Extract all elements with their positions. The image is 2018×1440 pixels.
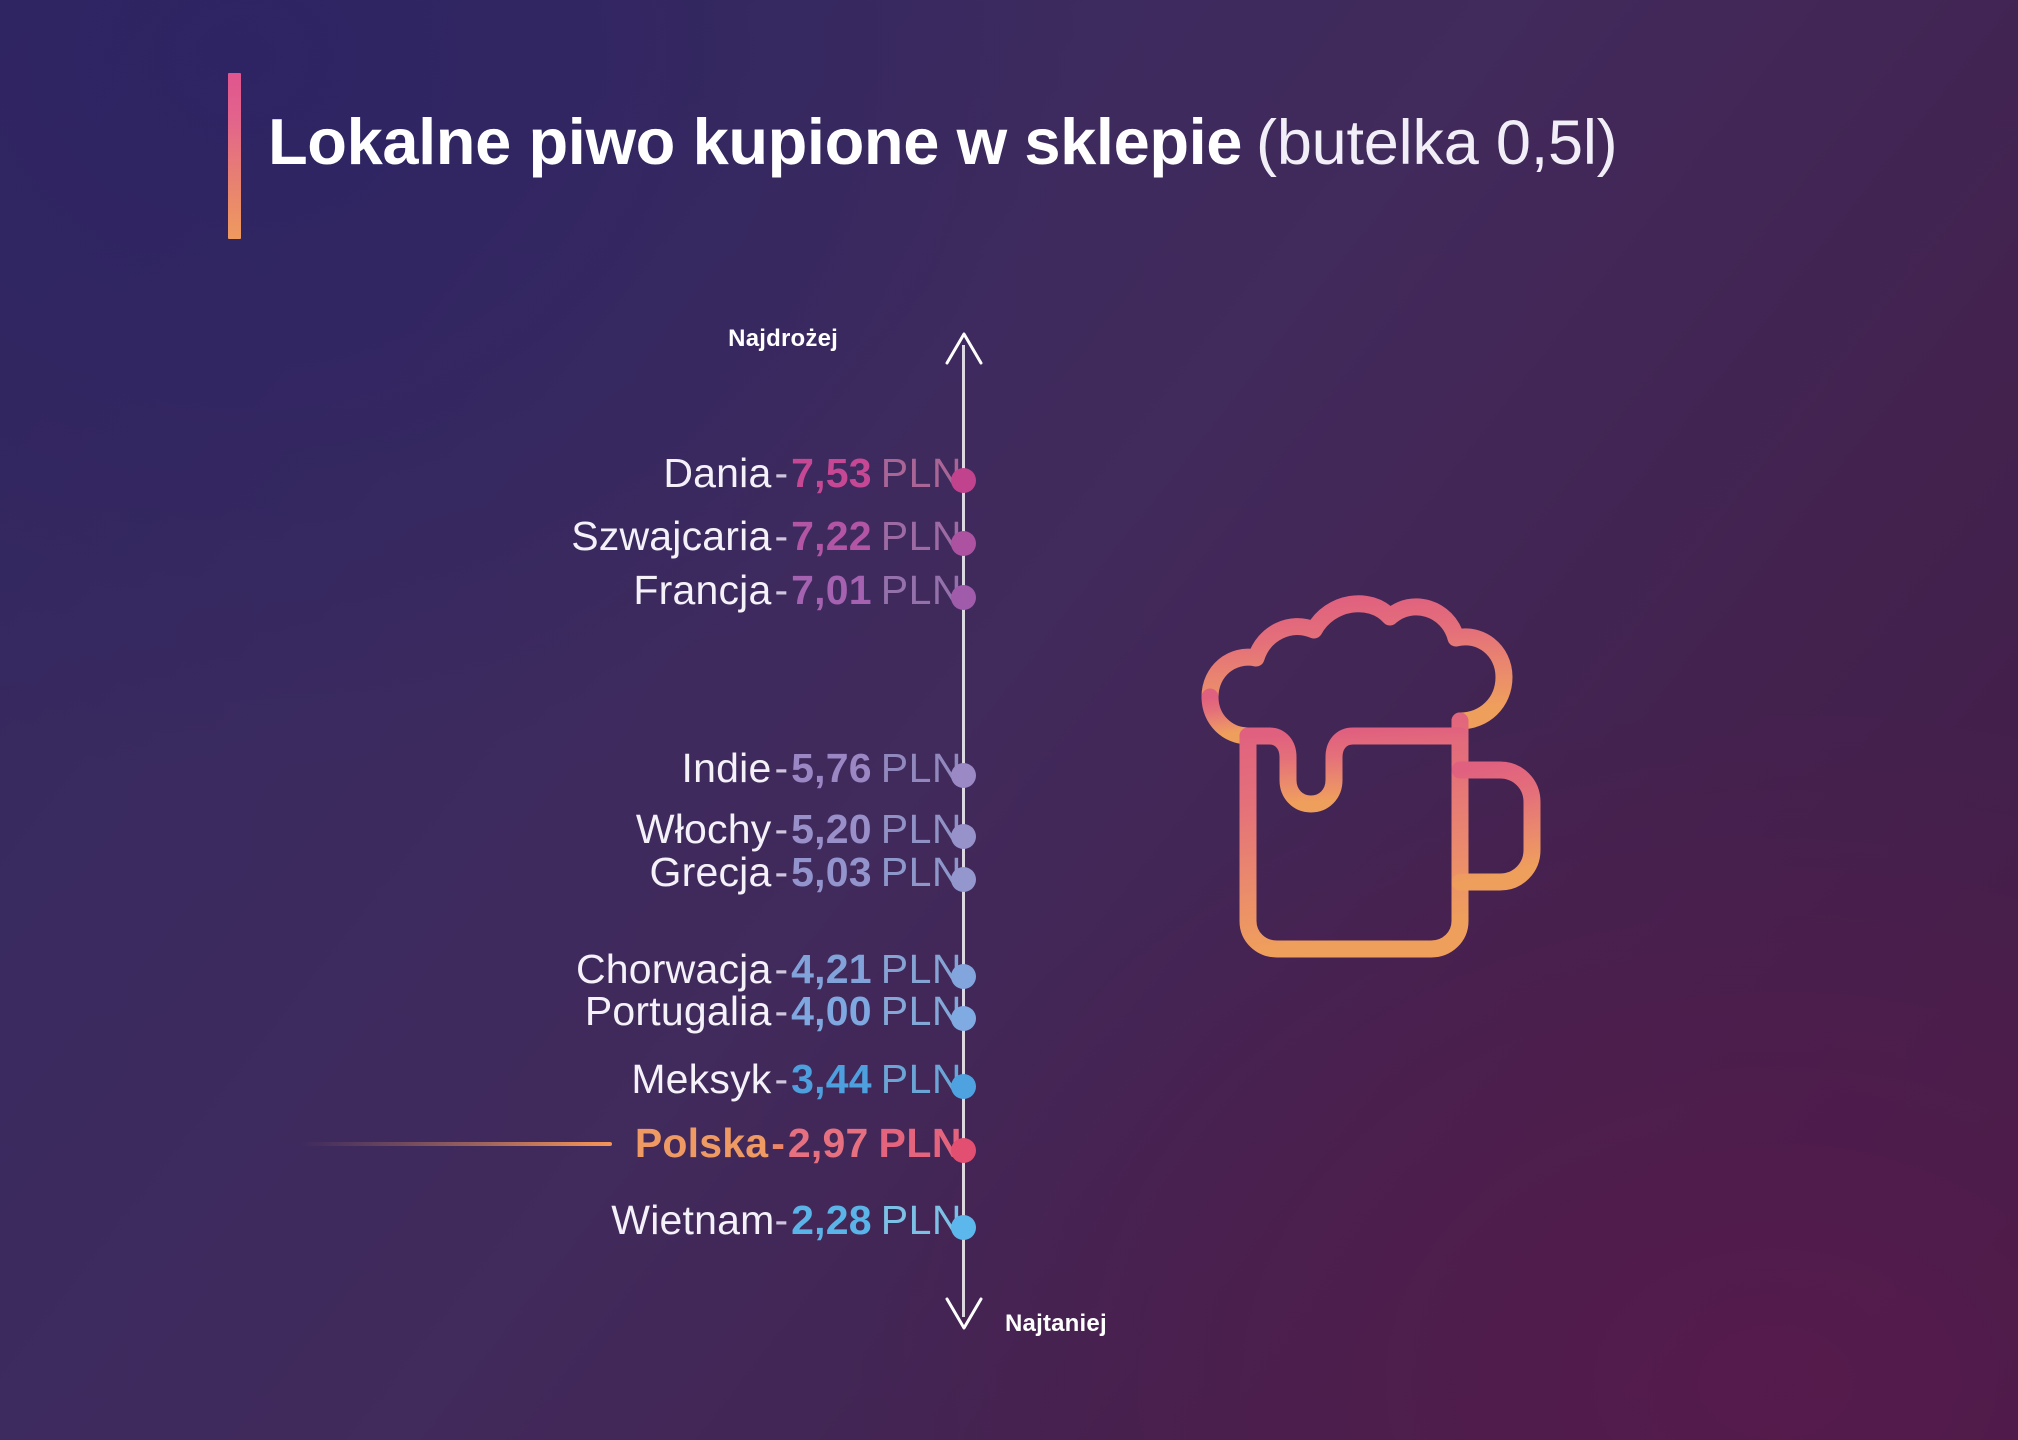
data-row-text: Portugalia-4,00PLN (585, 988, 962, 1035)
axis-dot (951, 1006, 976, 1031)
country-label: Włochy (636, 806, 772, 852)
row-separator: - (771, 745, 791, 791)
axis-dot (951, 1215, 976, 1240)
axis-dot (951, 824, 976, 849)
price-unit: PLN (881, 1197, 962, 1243)
country-label: Wietnam (611, 1197, 774, 1243)
axis-dot (951, 585, 976, 610)
arrow-down-icon (942, 1296, 986, 1332)
price-unit: PLN (881, 806, 962, 852)
price-unit: PLN (881, 849, 962, 895)
price-unit: PLN (881, 745, 962, 791)
price-value: 3,44 (791, 1056, 872, 1102)
data-row-text: Meksyk-3,44PLN (631, 1056, 962, 1103)
country-label: Indie (682, 745, 772, 791)
axis-dot (951, 964, 976, 989)
price-value: 4,00 (791, 988, 872, 1034)
data-row-text: Chorwacja-4,21PLN (576, 946, 962, 993)
data-row-text: Grecja-5,03PLN (650, 849, 963, 896)
price-value: 2,28 (791, 1197, 872, 1243)
axis-dot (951, 763, 976, 788)
axis-top-label: Najdrożej (728, 325, 838, 353)
country-label: Szwajcaria (571, 513, 771, 559)
row-separator: - (771, 849, 791, 895)
page-title: Lokalne piwo kupione w sklepie(butelka 0… (268, 104, 1617, 179)
row-separator: - (771, 1056, 791, 1102)
price-unit: PLN (881, 988, 962, 1034)
price-unit: PLN (881, 513, 962, 559)
axis-dot (951, 531, 976, 556)
title-subtitle-text: (butelka 0,5l) (1256, 108, 1617, 178)
row-separator: - (771, 450, 791, 496)
axis-bottom-label: Najtaniej (1005, 1310, 1107, 1338)
country-label: Grecja (650, 849, 772, 895)
price-unit: PLN (881, 1056, 962, 1102)
price-unit: PLN (879, 1120, 963, 1166)
price-value: 7,53 (791, 450, 872, 496)
price-value: 7,01 (791, 567, 872, 613)
row-separator: - (771, 946, 791, 992)
row-separator: - (768, 1120, 788, 1166)
price-value: 5,76 (791, 745, 872, 791)
price-unit: PLN (881, 450, 962, 496)
title-accent-bar (228, 73, 241, 239)
data-row-text: Francja-7,01PLN (633, 567, 962, 614)
highlight-connector-line (300, 1142, 612, 1146)
data-row-text: Szwajcaria-7,22PLN (571, 513, 962, 560)
arrow-up-icon (942, 330, 986, 366)
price-value: 5,03 (791, 849, 872, 895)
axis-dot (951, 1074, 976, 1099)
price-value: 2,97 (788, 1120, 869, 1166)
price-unit: PLN (881, 567, 962, 613)
country-label: Meksyk (631, 1056, 771, 1102)
axis-dot (951, 468, 976, 493)
axis-dot (951, 867, 976, 892)
axis-dot (951, 1138, 976, 1163)
infographic-canvas: Lokalne piwo kupione w sklepie(butelka 0… (0, 0, 2018, 1440)
beer-mug-icon (1148, 570, 1568, 990)
row-separator: - (774, 1197, 791, 1243)
row-separator: - (771, 988, 791, 1034)
data-row-text: Włochy-5,20PLN (636, 806, 962, 853)
country-label: Francja (633, 567, 771, 613)
data-row-text: Indie-5,76PLN (682, 745, 962, 792)
row-separator: - (771, 513, 791, 559)
title-main-text: Lokalne piwo kupione w sklepie (268, 105, 1242, 178)
price-value: 7,22 (791, 513, 872, 559)
row-separator: - (771, 567, 791, 613)
country-label: Portugalia (585, 988, 772, 1034)
country-label: Chorwacja (576, 946, 772, 992)
country-label: Polska (635, 1120, 768, 1166)
price-value: 5,20 (791, 806, 872, 852)
data-row-text: Wietnam-2,28PLN (611, 1197, 962, 1244)
price-value: 4,21 (791, 946, 872, 992)
price-unit: PLN (881, 946, 962, 992)
data-row-text: Dania-7,53PLN (663, 450, 962, 497)
row-separator: - (771, 806, 791, 852)
country-label: Dania (663, 450, 771, 496)
data-row-text: Polska-2,97PLN (635, 1120, 962, 1167)
